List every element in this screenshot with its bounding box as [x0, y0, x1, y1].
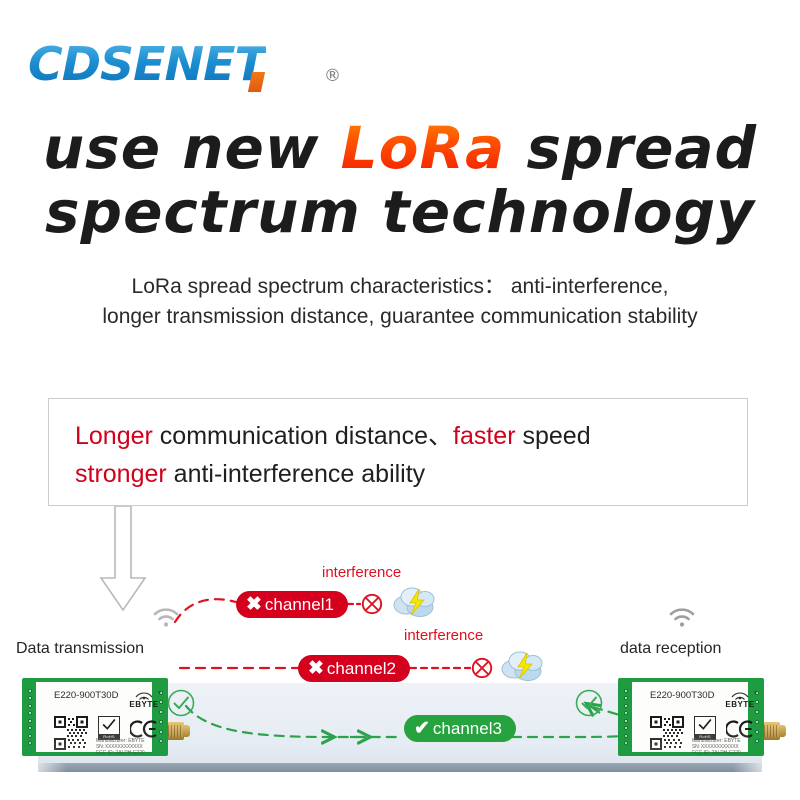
benefits-callout-text: Longer communication distance、faster spe… [75, 417, 591, 493]
channel2-label: channel2 [327, 659, 396, 679]
channel3-badge[interactable]: ✔ channel3 [404, 715, 516, 742]
blocked-circle-x-icon-1 [361, 593, 383, 615]
module-part-number-left: E220-900T30D [54, 690, 118, 701]
page-headline: use new LoRa spread spectrum technology [0, 116, 800, 244]
interference-label-2: interference [404, 627, 483, 644]
channel1-cross-icon: ✖ [246, 595, 262, 614]
registered-trademark-icon: ® [324, 66, 341, 86]
communication-diagram: Data transmission data reception interfe… [0, 545, 800, 800]
transmitter-label: Data transmission [16, 640, 144, 658]
channel2-cross-icon: ✖ [308, 659, 324, 678]
headline-line-2: spectrum technology [0, 180, 800, 244]
channel1-path [175, 599, 236, 622]
page-subtitle: LoRa spread spectrum characteristics： an… [0, 272, 800, 332]
callout-text-1b: communication distance、 [153, 422, 453, 450]
antenna-tip-right [779, 725, 786, 737]
headline-text-pre: use new [43, 114, 341, 182]
interference-label-1: interference [322, 564, 401, 581]
storm-cloud-icon-1 [392, 581, 440, 619]
callout-highlight-faster: faster [453, 422, 516, 450]
channel2-badge[interactable]: ✖ channel2 [298, 655, 410, 682]
storm-cloud-icon-2 [500, 645, 548, 683]
channel1-label: channel1 [265, 595, 334, 615]
module-reflection-left [22, 716, 182, 756]
headline-line-1: use new LoRa spread [0, 116, 800, 180]
subtitle-line-1: LoRa spread spectrum characteristics： an… [0, 272, 800, 302]
callout-highlight-longer: Longer [75, 422, 153, 450]
ebyte-brandname-left: EBYTE [122, 688, 166, 710]
antenna-tip-left [183, 725, 190, 737]
subtitle-line-2: longer transmission distance, guarantee … [0, 302, 800, 332]
callout-text-2b: anti-interference ability [167, 460, 425, 488]
callout-text-1d: speed [516, 422, 591, 450]
wifi-icon-transmitter [152, 606, 180, 628]
channel3-path-left [186, 706, 400, 737]
channel1-badge[interactable]: ✖ channel1 [236, 591, 348, 618]
module-reflection-right [618, 716, 778, 756]
wifi-icon-receiver [668, 606, 696, 628]
brand-logo: CDSENET ® [28, 36, 358, 96]
headline-text-post: spread [505, 114, 757, 182]
module-part-number-right: E220-900T30D [650, 690, 714, 701]
callout-line-1: Longer communication distance、faster spe… [75, 417, 591, 455]
benefits-callout-box: Longer communication distance、faster spe… [48, 398, 748, 506]
channel3-check-icon: ✔ [414, 719, 430, 738]
channel3-label: channel3 [433, 719, 502, 739]
check-circle-icon-right [574, 688, 604, 718]
callout-highlight-stronger: stronger [75, 460, 167, 488]
ebyte-brandname-right: EBYTE [718, 688, 762, 710]
brand-wordmark: CDSENET [28, 36, 266, 92]
callout-line-2: stronger anti-interference ability [75, 455, 591, 493]
headline-accent-lora: LoRa [341, 114, 506, 182]
receiver-label: data reception [620, 640, 721, 658]
blocked-circle-x-icon-2 [471, 657, 493, 679]
